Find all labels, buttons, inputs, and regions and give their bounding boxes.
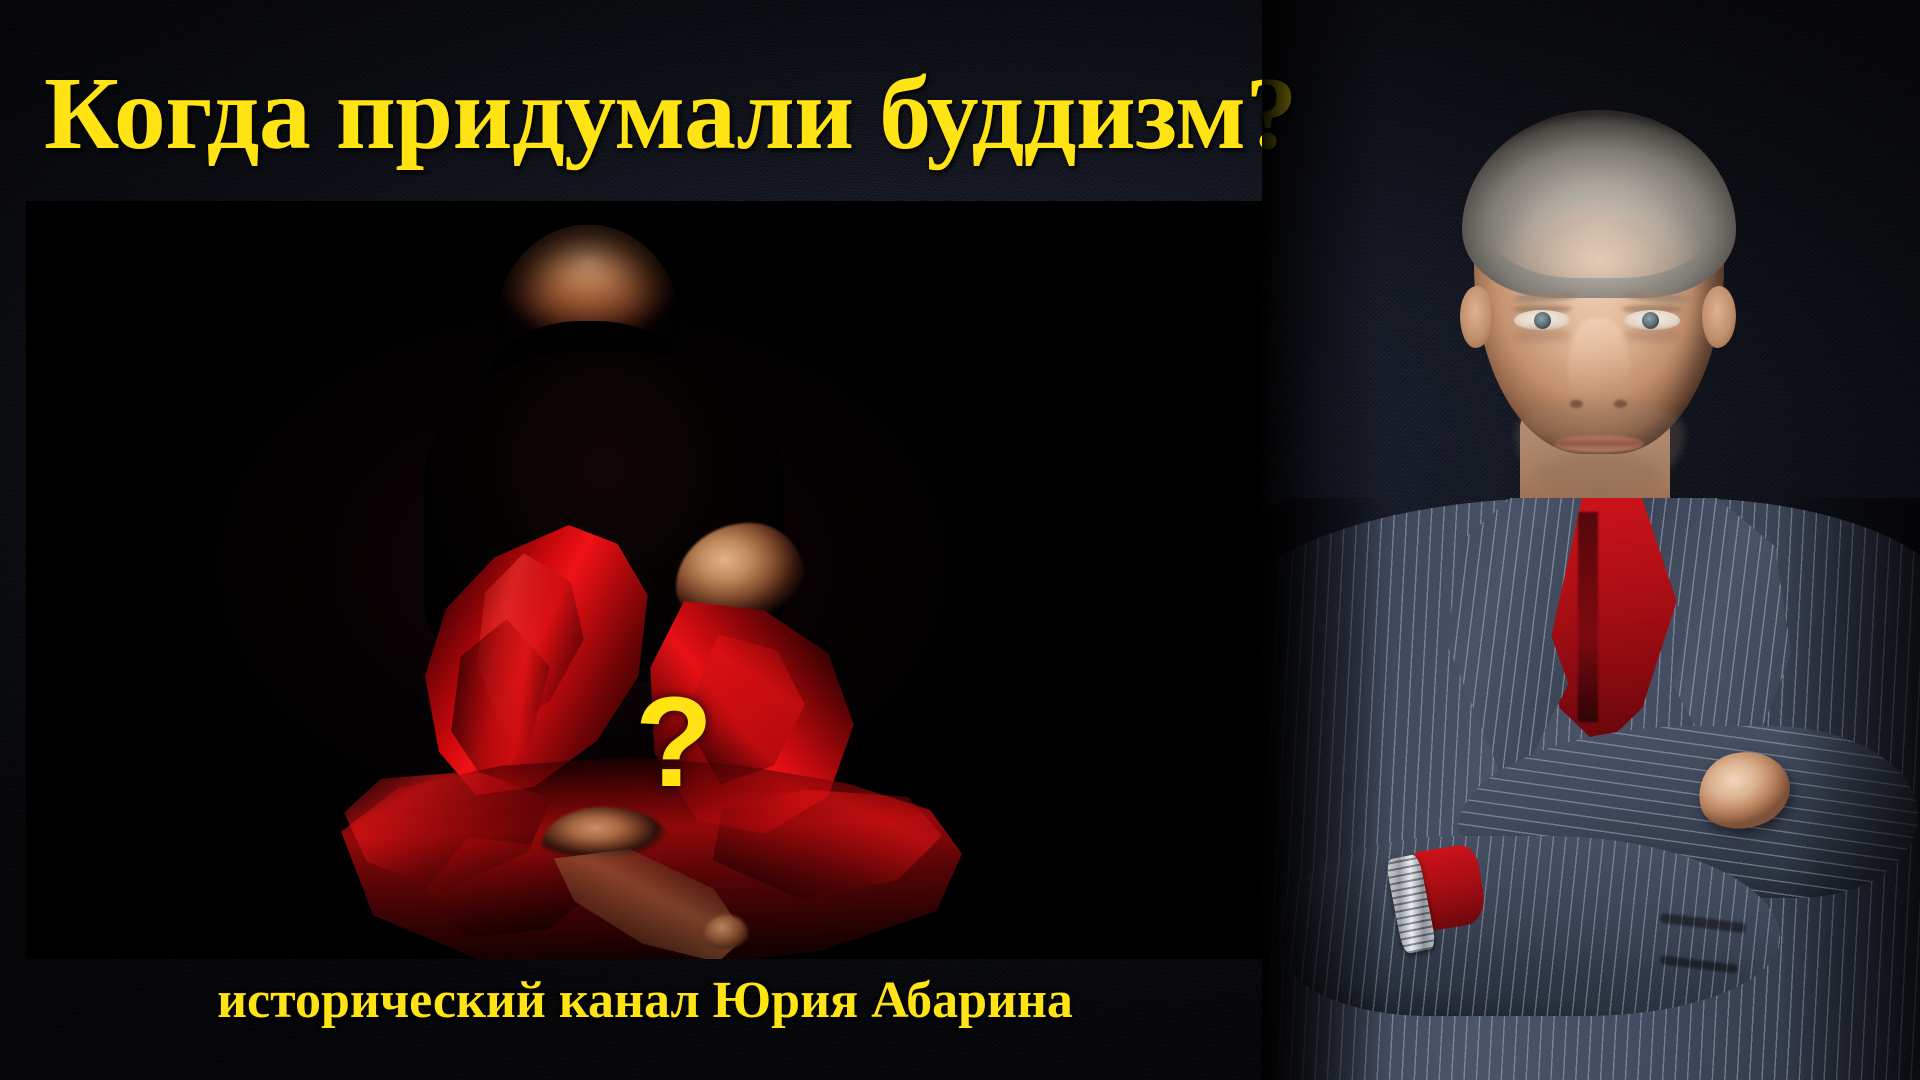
shirt-placket [1578,512,1598,722]
channel-caption: исторический канал Юрия Абарина [0,975,1290,1027]
thumbnail-canvas: Когда придумали буддизм? ? исторический … [0,0,1920,1080]
monk-foot [704,915,748,949]
presenter-nose [1568,318,1630,412]
monk-photo: ? [26,201,1262,959]
presenter-left-eye [1514,310,1570,330]
presenter-edge-blend [1262,0,1382,1080]
presenter-right-eye [1624,310,1680,330]
question-mark-overlay: ? [626,679,722,807]
presenter-right-undereye [1623,328,1681,342]
suit-shadow-right [1782,498,1920,1080]
page-title: Когда придумали буддизм? [44,62,1274,166]
right-iris [1642,312,1659,329]
presenter-chin-shadow [1536,452,1662,498]
presenter-portrait [1262,0,1920,1080]
presenter-right-ear-icon [1702,286,1736,348]
presenter-left-undereye [1513,328,1571,342]
left-iris [1534,312,1551,329]
presenter-mouth [1554,436,1644,452]
